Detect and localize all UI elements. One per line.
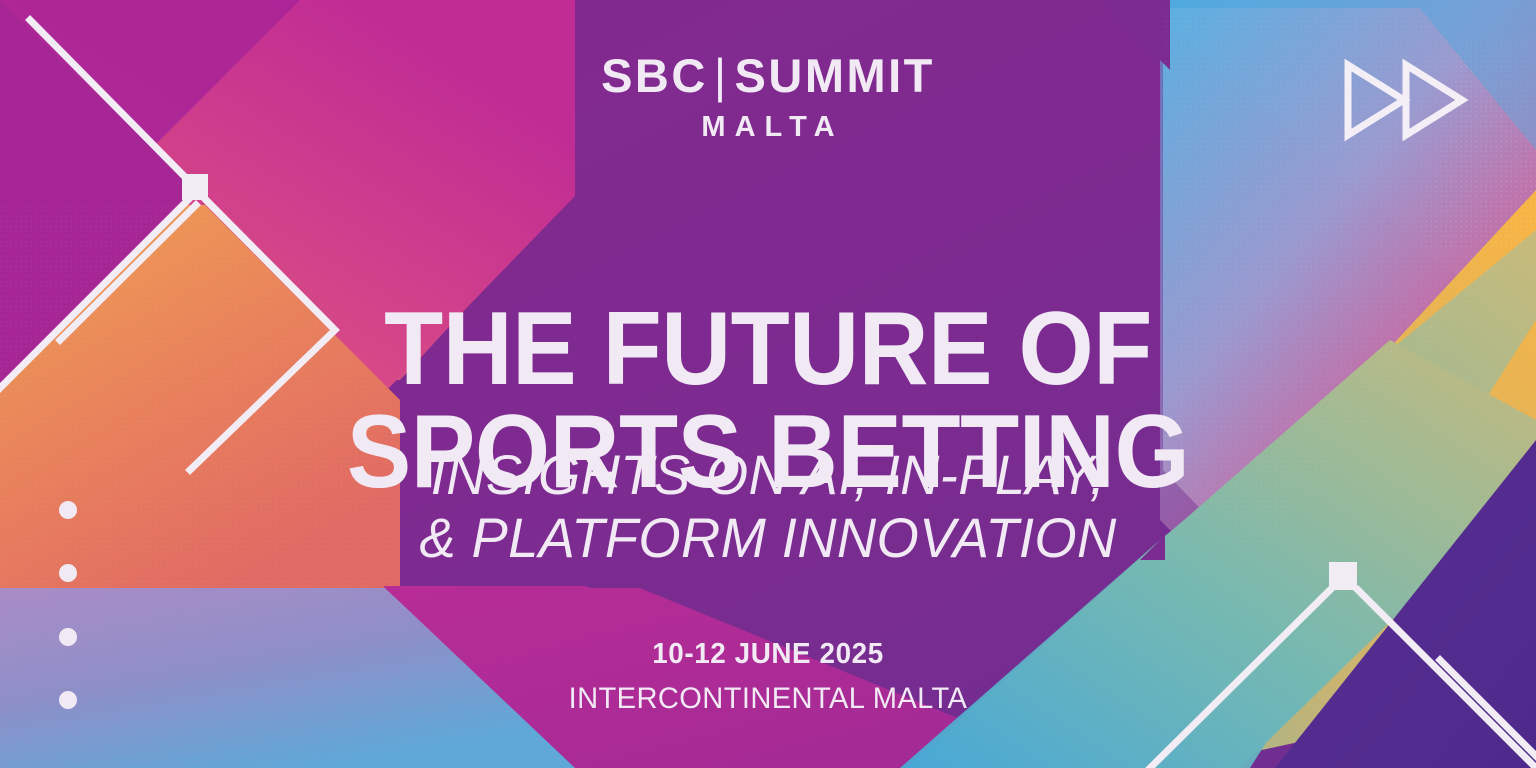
- logo-wordmark: SBC|SUMMIT: [0, 52, 1536, 99]
- event-banner: SBC|SUMMIT MALTA THE FUTURE OF SPORTS BE…: [0, 0, 1536, 768]
- event-venue: INTERCONTINENTAL MALTA: [23, 684, 1513, 714]
- subtitle: INSIGHTS ON AI, IN-PLAY, & PLATFORM INNO…: [23, 444, 1513, 569]
- event-dates: 10-12 JUNE 2025: [31, 640, 1506, 669]
- event-details: 10-12 JUNE 2025 INTERCONTINENTAL MALTA: [0, 640, 1536, 714]
- logo-product: SUMMIT: [735, 49, 935, 102]
- event-logo: SBC|SUMMIT MALTA: [0, 52, 1536, 142]
- logo-separator: |: [714, 52, 729, 100]
- logo-brand: SBC: [601, 49, 708, 102]
- banner-content: SBC|SUMMIT MALTA THE FUTURE OF SPORTS BE…: [0, 0, 1536, 768]
- subtitle-line-1: INSIGHTS ON AI, IN-PLAY,: [23, 444, 1513, 507]
- logo-location: MALTA: [0, 113, 1536, 142]
- headline-line-1: THE FUTURE OF: [54, 298, 1482, 401]
- subtitle-line-2: & PLATFORM INNOVATION: [23, 507, 1513, 570]
